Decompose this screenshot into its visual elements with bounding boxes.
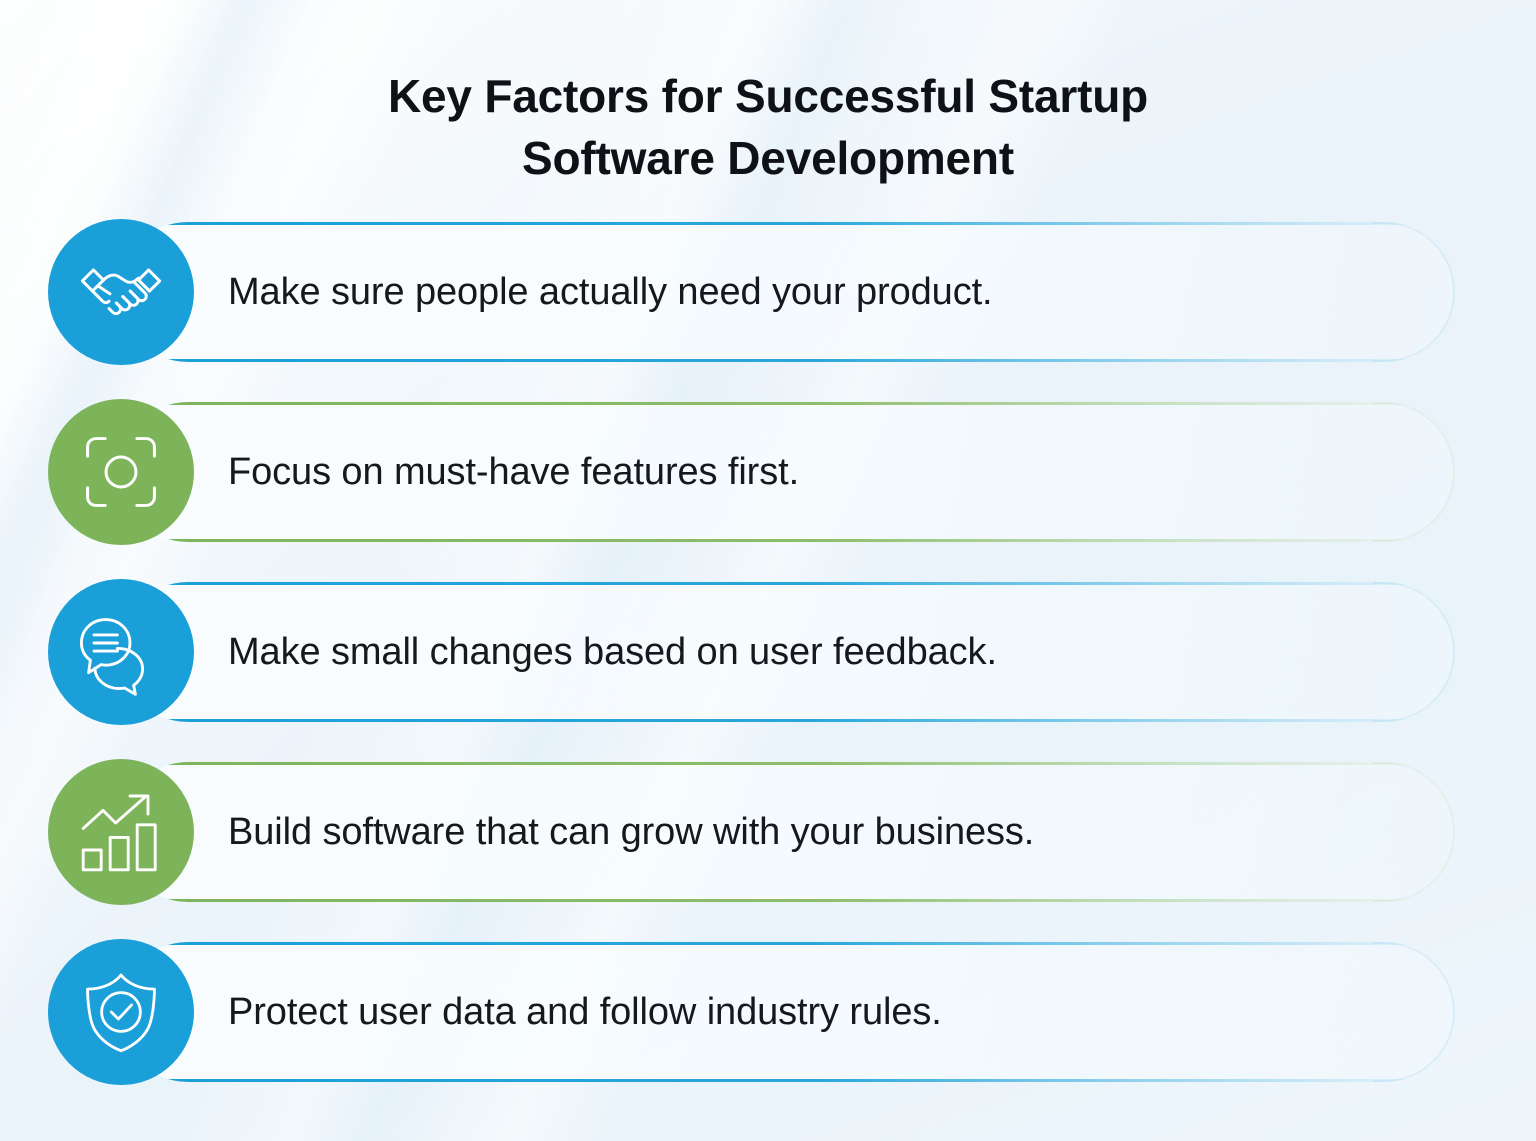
page-title: Key Factors for Successful Startup Softw… [0, 65, 1536, 189]
list-item: Make small changes based on user feedbac… [0, 582, 1536, 722]
list-item: Make sure people actually need your prod… [0, 222, 1536, 362]
pill-right-cap [1373, 582, 1455, 722]
pill-right-cap [1373, 222, 1455, 362]
infographic-canvas: Key Factors for Successful Startup Softw… [0, 0, 1536, 1141]
page-title-line-2: Software Development [0, 127, 1536, 189]
factor-text: Build software that can grow with your b… [228, 762, 1034, 902]
factor-text: Make small changes based on user feedbac… [228, 582, 997, 722]
pill-right-cap [1373, 762, 1455, 902]
growth-chart-icon [48, 759, 194, 905]
list-item: Protect user data and follow industry ru… [0, 942, 1536, 1082]
pill-right-cap [1373, 942, 1455, 1082]
chat-bubbles-icon [48, 579, 194, 725]
factor-text: Protect user data and follow industry ru… [228, 942, 942, 1082]
shield-check-icon [48, 939, 194, 1085]
factor-text: Make sure people actually need your prod… [228, 222, 993, 362]
handshake-icon [48, 219, 194, 365]
list-item: Build software that can grow with your b… [0, 762, 1536, 902]
focus-target-icon [48, 399, 194, 545]
pill-right-cap [1373, 402, 1455, 542]
factor-list: Make sure people actually need your prod… [0, 222, 1536, 1082]
list-item: Focus on must-have features first. [0, 402, 1536, 542]
page-title-line-1: Key Factors for Successful Startup [0, 65, 1536, 127]
factor-text: Focus on must-have features first. [228, 402, 799, 542]
